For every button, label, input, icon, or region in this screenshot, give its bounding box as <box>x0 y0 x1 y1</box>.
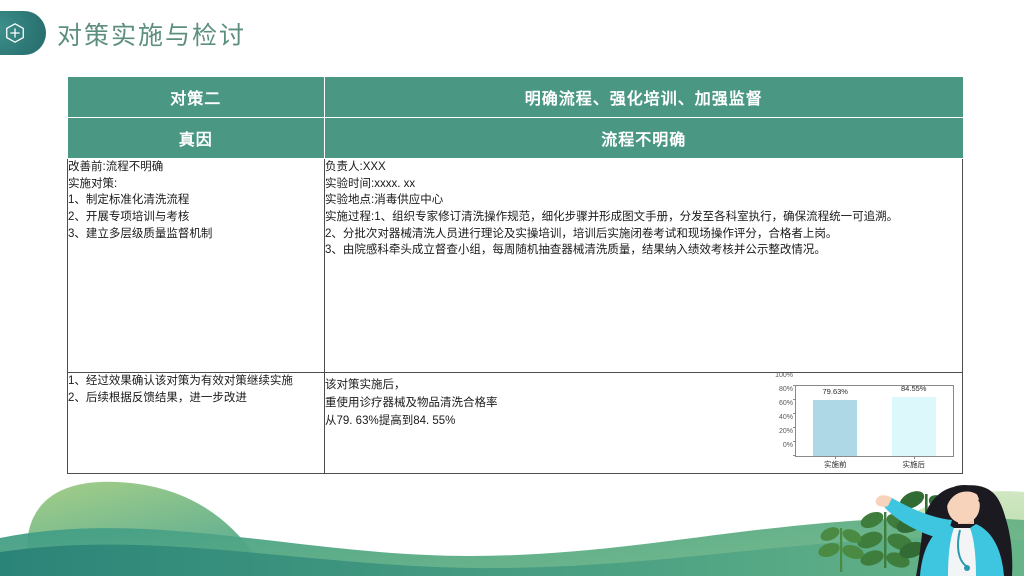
result-line-1: 该对策实施后， <box>325 377 498 395</box>
table-body-row-1: 改善前:流程不明确 实施对策: 1、制定标准化清洗流程 2、开展专项培训与考核 … <box>68 159 963 373</box>
y-axis-tickmark <box>793 413 796 414</box>
place-text: 实验地点:消毒供应中心 <box>325 192 962 209</box>
page-title: 对策实施与检讨 <box>57 16 246 52</box>
countermeasure-table: 对策二 明确流程、强化培训、加强监督 真因 流程不明确 改善前:流程不明确 实施… <box>67 77 963 474</box>
process-item-2: 2、分批次对器械清洗人员进行理论及实操培训，培训后实施闭卷考试和现场操作评分，合… <box>325 226 962 243</box>
header-label-countermeasure: 对策二 <box>68 77 325 118</box>
y-axis-tick-label: 80% <box>779 385 793 395</box>
plant-sprout-icon-2 <box>894 488 959 570</box>
measures-title: 实施对策: <box>68 176 324 193</box>
result-line-3: 从79. 63%提高到84. 55% <box>325 413 498 431</box>
title-badge <box>0 11 46 55</box>
plant-sprout-icon-3 <box>817 524 866 572</box>
y-axis-tick-label: 60% <box>779 399 793 409</box>
y-axis-tickmark <box>793 399 796 400</box>
plant-sprout-icon <box>855 509 915 571</box>
measures-cell: 改善前:流程不明确 实施对策: 1、制定标准化清洗流程 2、开展专项培训与考核 … <box>68 159 325 373</box>
followup-item-1: 1、经过效果确认该对策为有效对策继续实施 <box>68 373 324 390</box>
chart-bar: 79.63%实施前 <box>813 400 857 456</box>
measure-item-3: 3、建立多层级质量监督机制 <box>68 226 324 243</box>
y-axis-tick-label: 0% <box>783 441 793 451</box>
process-item-1: 实施过程:1、组织专家修订清洗操作规范，细化步骤并形成图文手册，分发至各科室执行… <box>325 209 962 226</box>
measure-item-1: 1、制定标准化清洗流程 <box>68 192 324 209</box>
x-axis-tick-label: 实施前 <box>813 460 857 471</box>
process-item-3: 3、由院感科牵头成立督查小组，每周随机抽查器械清洗质量，结果纳入绩效考核并公示整… <box>325 242 962 259</box>
x-axis-tick-label: 实施后 <box>892 460 936 471</box>
table-header-row-2: 真因 流程不明确 <box>68 118 963 159</box>
before-state-text: 改善前:流程不明确 <box>68 159 324 176</box>
measure-item-2: 2、开展专项培训与考核 <box>68 209 324 226</box>
front-hill-shape <box>0 538 1024 576</box>
result-line-2: 重使用诊疗器械及物品清洗合格率 <box>325 395 498 413</box>
chart-plot-area: 0%20%40%60%80%100%79.63%实施前84.55%实施后 <box>795 385 954 457</box>
y-axis-tickmark <box>793 441 796 442</box>
followup-item-2: 2、后续根据反馈结果，进一步改进 <box>68 390 324 407</box>
implementation-cell: 负责人:XXX 实验时间:xxxx. xx 实验地点:消毒供应中心 实施过程:1… <box>325 159 963 373</box>
result-text-block: 该对策实施后， 重使用诊疗器械及物品清洗合格率 从79. 63%提高到84. 5… <box>325 373 498 430</box>
back-hill-shape <box>27 482 268 576</box>
bar-data-label: 84.55% <box>892 384 936 395</box>
mid-hill-shape <box>0 518 1024 576</box>
time-text: 实验时间:xxxx. xx <box>325 176 962 193</box>
y-axis-tickmark <box>793 427 796 428</box>
owner-text: 负责人:XXX <box>325 159 962 176</box>
right-hill-shape <box>860 491 1024 576</box>
pass-rate-bar-chart: 0%20%40%60%80%100%79.63%实施前84.55%实施后 <box>762 375 960 479</box>
table-body-row-2: 1、经过效果确认该对策为有效对策继续实施 2、后续根据反馈结果，进一步改进 该对… <box>68 373 963 474</box>
slide-header: 对策实施与检讨 <box>0 0 1024 66</box>
table-header-row-1: 对策二 明确流程、强化培训、加强监督 <box>68 77 963 118</box>
y-axis-tick-label: 20% <box>779 427 793 437</box>
chart-bar: 84.55%实施后 <box>892 397 936 456</box>
x-axis-tickmark <box>835 456 836 459</box>
y-axis-tick-label: 40% <box>779 413 793 423</box>
header-value-rootcause: 流程不明确 <box>325 118 963 159</box>
followup-cell: 1、经过效果确认该对策为有效对策继续实施 2、后续根据反馈结果，进一步改进 <box>68 373 325 474</box>
header-label-rootcause: 真因 <box>68 118 325 159</box>
hexagon-plus-icon <box>4 22 26 44</box>
result-cell: 该对策实施后， 重使用诊疗器械及物品清洗合格率 从79. 63%提高到84. 5… <box>325 373 963 474</box>
x-axis-tickmark <box>914 456 915 459</box>
header-value-countermeasure: 明确流程、强化培训、加强监督 <box>325 77 963 118</box>
person-pointing-illustration <box>876 485 1013 576</box>
y-axis-tickmark <box>793 455 796 456</box>
bar-data-label: 79.63% <box>813 387 857 398</box>
y-axis-tick-label: 100% <box>775 371 793 381</box>
y-axis-tickmark <box>793 385 796 386</box>
